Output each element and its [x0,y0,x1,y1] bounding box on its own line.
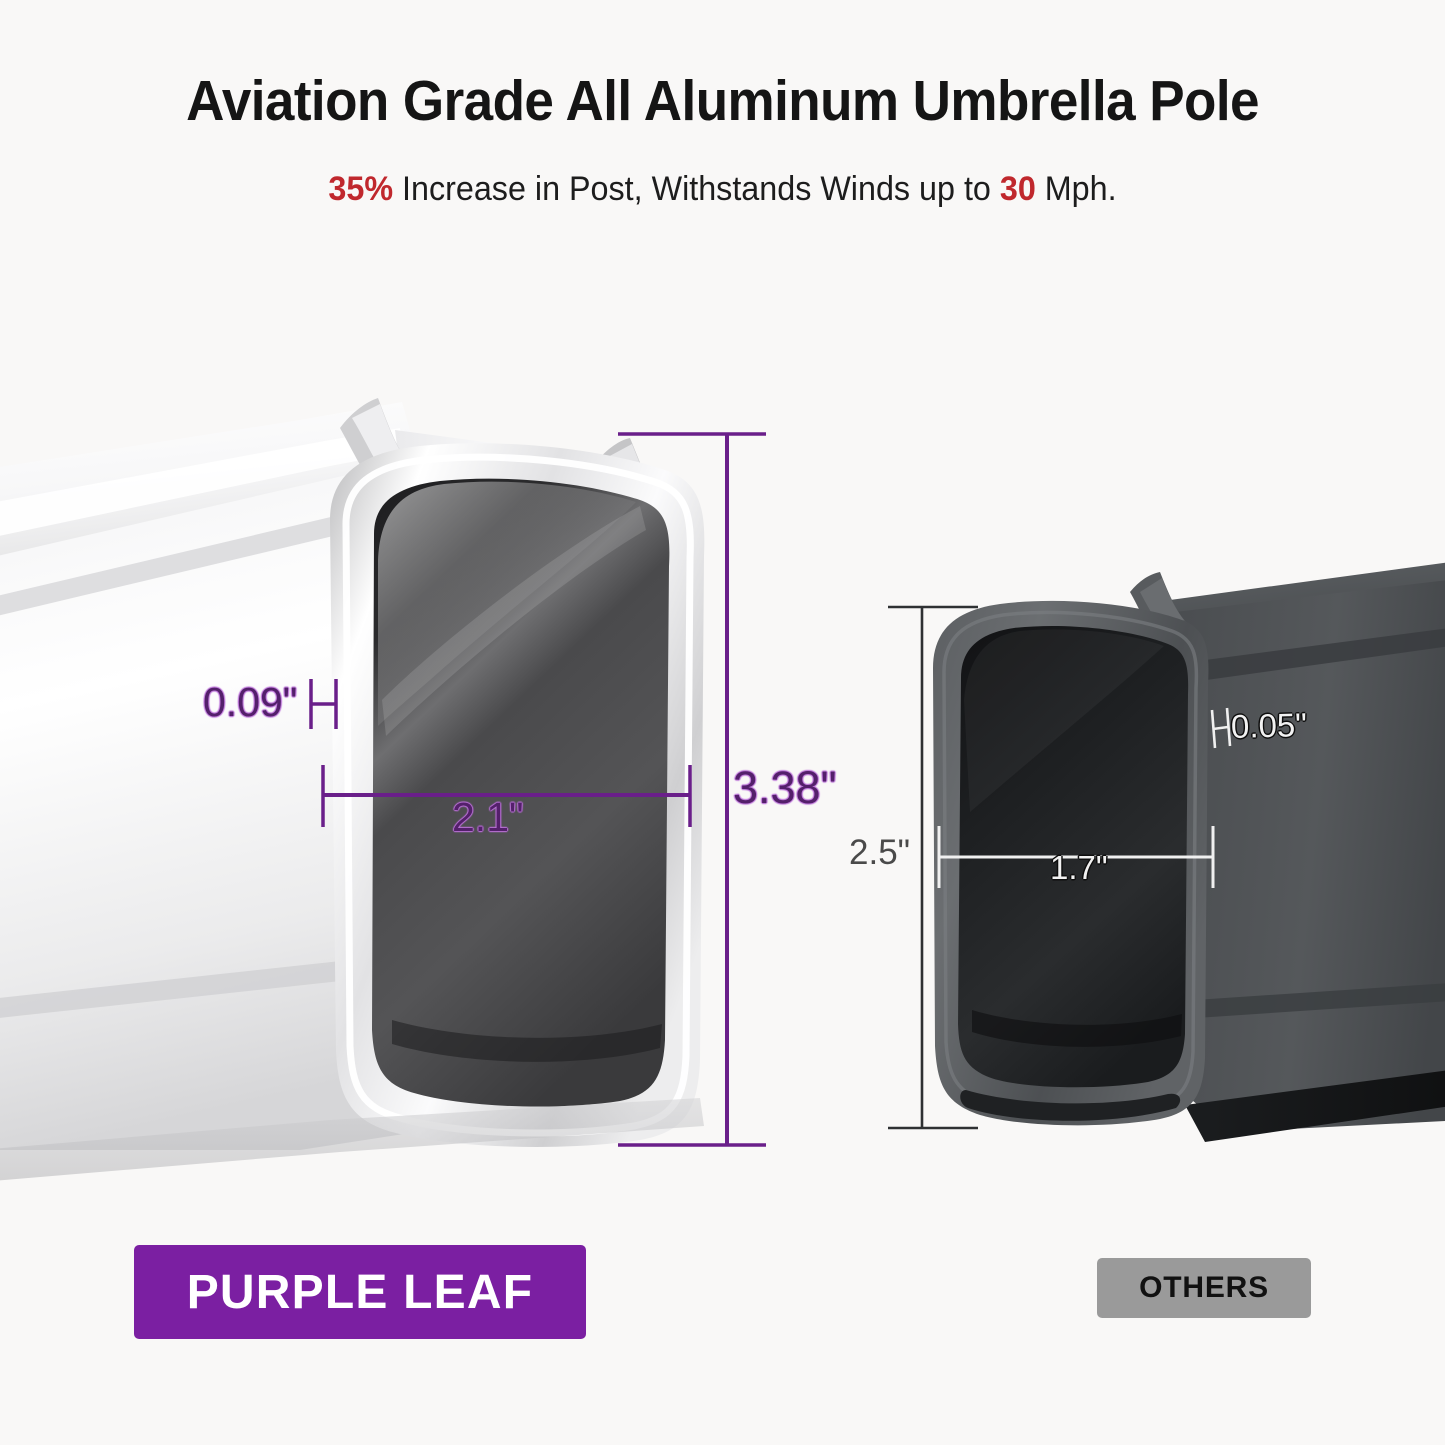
others-pole-illustration [933,560,1445,1142]
purple-leaf-pole-illustration [0,398,704,1182]
brand-badge-others: OTHERS [1097,1258,1311,1318]
infographic-root: Aviation Grade All Aluminum Umbrella Pol… [0,0,1445,1445]
product-comparison-scene [0,0,1445,1445]
brand-badge-purple-leaf: PURPLE LEAF [134,1245,586,1339]
